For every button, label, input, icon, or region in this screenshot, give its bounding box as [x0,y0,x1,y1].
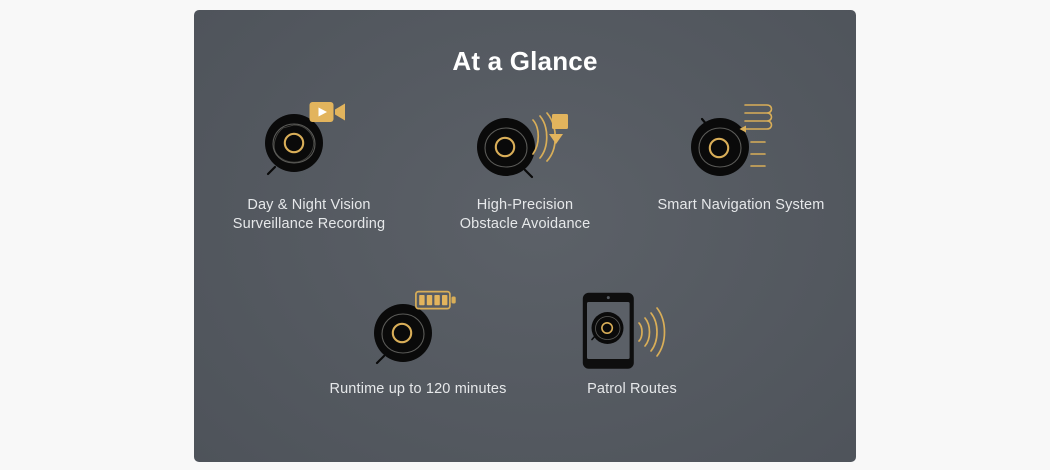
video-camera-icon [309,98,349,126]
feature-icon-patrol-routes [572,282,692,374]
feature-smart-navigation[interactable]: Smart Navigation System [633,98,849,234]
feature-patrol-routes[interactable]: Patrol Routes [525,282,739,399]
feature-label-obstacle-avoidance: High-Precision Obstacle Avoidance [460,196,591,234]
page-title: At a Glance [194,46,856,77]
signal-waves-icon [636,306,672,358]
navigation-path-icon [739,98,791,184]
feature-day-night-vision[interactable]: Day & Night Vision Surveillance Recordin… [201,98,417,234]
battery-icon [415,290,459,314]
feature-row-bottom: Runtime up to 120 minutes [194,282,856,399]
feature-icon-day-night-vision [249,98,369,190]
feature-row-top: Day & Night Vision Surveillance Recordin… [194,98,856,234]
feature-obstacle-avoidance[interactable]: High-Precision Obstacle Avoidance [417,98,633,234]
at-a-glance-card: At a Glance [194,10,856,462]
feature-label-runtime: Runtime up to 120 minutes [329,380,506,399]
feature-label-patrol-routes: Patrol Routes [587,380,677,399]
feature-icon-obstacle-avoidance [465,98,585,190]
feature-runtime[interactable]: Runtime up to 120 minutes [311,282,525,399]
sensor-waves-icon [527,108,575,168]
feature-icon-runtime [358,282,478,374]
feature-icon-smart-navigation [681,98,801,190]
feature-label-day-night-vision: Day & Night Vision Surveillance Recordin… [233,196,385,234]
screenshot-stage: At a Glance [0,0,1050,470]
feature-label-smart-navigation: Smart Navigation System [657,196,824,215]
phone-icon [582,292,636,370]
